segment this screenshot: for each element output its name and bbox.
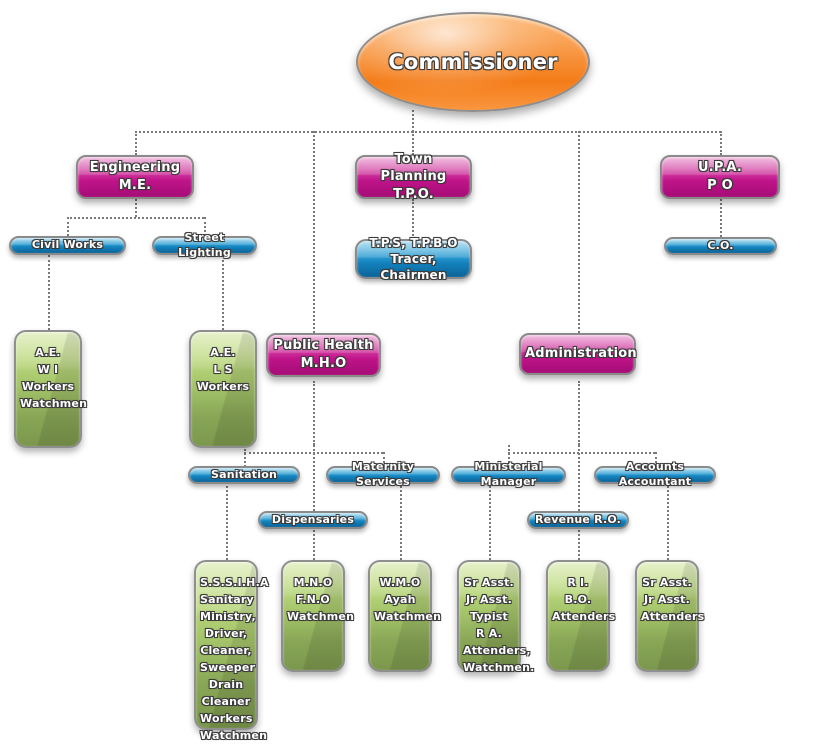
node-sr-asst-accounts[interactable]: Sr Asst.Jr Asst.Attenders [635, 560, 699, 672]
node-wmo-ayah-label: W.M.OAyahWatchmen [370, 574, 430, 625]
connector-engineering-bus [67, 217, 204, 219]
node-town-planning-label: Town PlanningT.P.O. [357, 151, 470, 204]
node-sr-asst-accounts-label: Sr Asst.Jr Asst.Attenders [637, 574, 697, 625]
node-sr-asst-ministerial[interactable]: Sr Asst.Jr Asst.TypistR A.Attenders,Watc… [457, 560, 521, 672]
node-dispensaries-label: Dispensaries [260, 513, 366, 528]
node-public-health[interactable]: Public HealthM.H.O [266, 333, 381, 377]
connector-upa-to-co [720, 199, 722, 237]
node-upa-label: U.P.A.P O [662, 159, 778, 194]
node-public-health-label: Public HealthM.H.O [268, 337, 379, 372]
node-engineering-label: EngineeringM.E. [78, 159, 192, 194]
node-revenue-ro[interactable]: Revenue R.O. [527, 511, 629, 529]
node-ae-wi[interactable]: A.E.W IWorkersWatchmen [14, 330, 82, 448]
node-administration-label: Administration [521, 345, 634, 363]
node-commissioner-label: Commissioner [358, 48, 588, 76]
node-co-label: C.O. [666, 239, 775, 254]
connector-accounts-to-sr-asst [667, 482, 669, 560]
connector-sanitation-to-sanitary-staff [226, 482, 228, 560]
connector-to-dispensaries [313, 445, 315, 511]
connector-to-revenue-ro [578, 445, 580, 511]
node-street-lighting[interactable]: Street Lighting [152, 236, 257, 255]
node-maternity-services[interactable]: Maternity Services [326, 466, 440, 484]
node-sanitary-staff[interactable]: S.S.S.I.H.ASanitaryMinistry,Driver,Clean… [194, 560, 258, 730]
node-ae-wi-label: A.E.W IWorkersWatchmen [16, 344, 80, 412]
connector-dispensaries-to-mno [313, 530, 315, 560]
connector-to-public-health [313, 131, 315, 333]
node-engineering[interactable]: EngineeringM.E. [76, 155, 194, 199]
connector-administration-bus [508, 452, 655, 454]
connector-public-health-stem [313, 381, 315, 445]
node-sanitation-label: Sanitation [190, 468, 298, 483]
node-ae-ls-label: A.E.L SWorkers [191, 344, 255, 395]
node-sanitary-staff-label: S.S.S.I.H.ASanitaryMinistry,Driver,Clean… [196, 574, 256, 744]
node-maternity-services-label: Maternity Services [328, 460, 438, 490]
node-revenue-ro-label: Revenue R.O. [529, 513, 627, 528]
node-ministerial-manager-label: Ministerial Manager [453, 460, 564, 490]
connector-to-administration [578, 131, 580, 333]
connector-street-lighting-to-ae-ls [222, 255, 224, 330]
connector-top-bus [135, 131, 721, 133]
node-street-lighting-label: Street Lighting [154, 231, 255, 261]
node-ri-bo[interactable]: R I.B.O.Attenders [546, 560, 610, 672]
node-sr-asst-ministerial-label: Sr Asst.Jr Asst.TypistR A.Attenders,Watc… [459, 574, 519, 676]
connector-engineering-stem [135, 199, 137, 217]
node-wmo-ayah[interactable]: W.M.OAyahWatchmen [368, 560, 432, 672]
node-commissioner[interactable]: Commissioner [356, 12, 590, 112]
node-upa[interactable]: U.P.A.P O [660, 155, 780, 199]
node-ministerial-manager[interactable]: Ministerial Manager [451, 466, 566, 484]
node-mno-fno[interactable]: M.N.OF.N.OWatchmen [281, 560, 345, 672]
connector-root-stem [412, 110, 414, 132]
node-administration[interactable]: Administration [519, 333, 636, 375]
node-tps-tpbo[interactable]: T.P.S, T.P.B.OTracer, Chairmen [355, 239, 472, 279]
org-chart: Commissioner EngineeringM.E. Town Planni… [0, 0, 825, 743]
node-accounts-accountant-label: Accounts Accountant [596, 460, 714, 490]
connector-to-sanitation [244, 445, 246, 467]
node-mno-fno-label: M.N.OF.N.OWatchmen [283, 574, 343, 625]
node-ri-bo-label: R I.B.O.Attenders [548, 574, 608, 625]
node-civil-works-label: Civil Works [11, 238, 124, 253]
node-sanitation[interactable]: Sanitation [188, 466, 300, 484]
node-tps-tpbo-label: T.P.S, T.P.B.OTracer, Chairmen [357, 235, 470, 284]
node-co[interactable]: C.O. [664, 237, 777, 255]
connector-town-planning-to-tps [412, 199, 414, 239]
connector-to-engineering [135, 131, 137, 155]
connector-civil-works-to-ae-wi [48, 255, 50, 330]
node-ae-ls[interactable]: A.E.L SWorkers [189, 330, 257, 448]
connector-revenue-to-ri-bo [578, 530, 580, 560]
node-accounts-accountant[interactable]: Accounts Accountant [594, 466, 716, 484]
connector-to-civil-works [67, 217, 69, 236]
connector-to-upa [720, 131, 722, 155]
node-civil-works[interactable]: Civil Works [9, 236, 126, 255]
node-town-planning[interactable]: Town PlanningT.P.O. [355, 155, 472, 199]
connector-ministerial-to-sr-asst [489, 482, 491, 560]
connector-administration-stem [578, 381, 580, 445]
node-dispensaries[interactable]: Dispensaries [258, 511, 368, 529]
connector-maternity-to-wmo [400, 482, 402, 560]
